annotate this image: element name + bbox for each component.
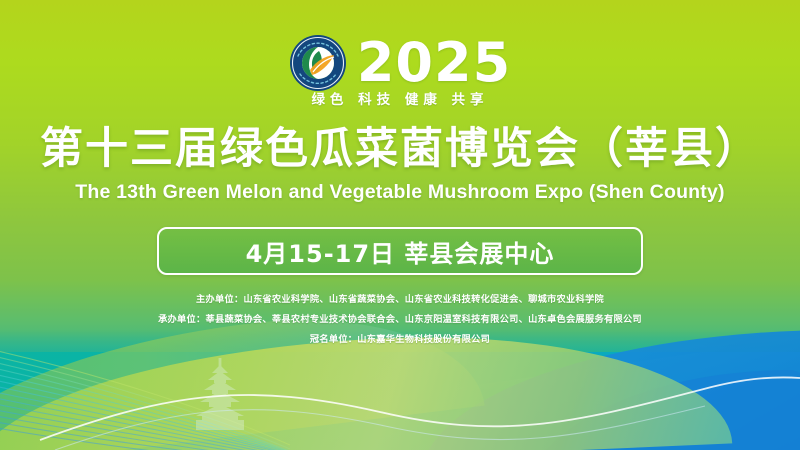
pagoda-icon: [188, 358, 252, 430]
tagline-text: 绿色 科技 健康 共享: [0, 88, 800, 108]
year-label: 2025: [357, 36, 511, 90]
organizer-line-sponsor: 冠名单位：山东嘉华生物科技股份有限公司: [0, 330, 800, 350]
green-leaf-emblem-icon: [289, 34, 347, 92]
organizer-line-host: 主办单位：山东省农业科学院、山东省蔬菜协会、山东省农业科技转化促进会、聊城市农业…: [0, 290, 800, 310]
date-venue-pill: 4月15-17日 莘县会展中心: [157, 227, 643, 275]
poster-title-english: The 13th Green Melon and Vegetable Mushr…: [0, 180, 800, 204]
organizer-list: 主办单位：山东省农业科学院、山东省蔬菜协会、山东省农业科技转化促进会、聊城市农业…: [0, 290, 800, 350]
organizer-line-organizer: 承办单位：莘县蔬菜协会、莘县农村专业技术协会联合会、山东京阳温室科技有限公司、山…: [0, 310, 800, 330]
date-venue-text: 4月15-17日 莘县会展中心: [246, 234, 555, 269]
poster-title-chinese: 第十三届绿色瓜菜菌博览会（莘县）: [0, 124, 800, 174]
logo-row: 2025: [0, 34, 800, 92]
expo-poster: 2025 绿色 科技 健康 共享 第十三届绿色瓜菜菌博览会（莘县） The 13…: [0, 0, 800, 450]
